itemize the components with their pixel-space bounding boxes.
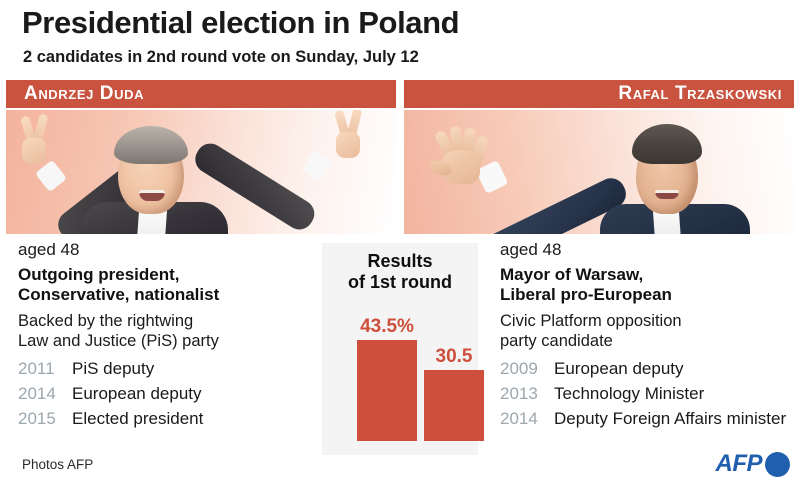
bar-group-duda: 43.5% (357, 340, 417, 441)
candidate-age-trzaskowski: aged 48 (500, 240, 796, 260)
bar-value-label: 43.5% (345, 316, 429, 340)
candidate-role-line1: Outgoing president, (18, 265, 314, 285)
timeline-row: 2014 European deputy (18, 382, 314, 406)
bar-trzaskowski (424, 370, 484, 441)
candidate-backing-line2: party candidate (500, 331, 796, 351)
timeline-label: Deputy Foreign Affairs minister (554, 407, 786, 431)
photos-credit: Photos AFP (22, 457, 93, 472)
candidate-photo-trzaskowski (404, 110, 794, 234)
timeline-label: PiS deputy (72, 357, 154, 381)
photo-mouth (139, 190, 165, 201)
infographic-root: Presidential election in Poland 2 candid… (0, 0, 800, 480)
timeline-label: European deputy (554, 357, 684, 381)
timeline-label: Technology Minister (554, 382, 704, 406)
timeline-year: 2011 (18, 357, 72, 381)
candidate-backing-line1: Civic Platform opposition (500, 311, 796, 331)
timeline-year: 2009 (500, 357, 554, 381)
bar-group-trzaskowski: 30.5 (424, 370, 484, 441)
timeline-label: European deputy (72, 382, 202, 406)
candidate-details-trzaskowski: aged 48 Mayor of Warsaw, Liberal pro-Eur… (500, 240, 796, 432)
timeline-year: 2013 (500, 382, 554, 406)
timeline-row: 2011 PiS deputy (18, 357, 314, 381)
candidate-details-duda: aged 48 Outgoing president, Conservative… (18, 240, 314, 432)
timeline-row: 2013 Technology Minister (500, 382, 796, 406)
timeline-year: 2014 (500, 407, 554, 431)
candidate-role-duda: Outgoing president, Conservative, nation… (18, 265, 314, 305)
timeline-row: 2015 Elected president (18, 407, 314, 431)
candidate-role-line2: Conservative, nationalist (18, 285, 314, 305)
candidate-backing-trzaskowski: Civic Platform opposition party candidat… (500, 311, 796, 351)
candidate-backing-line2: Law and Justice (PiS) party (18, 331, 314, 351)
chart-plot-area: 43.5% 30.5 (322, 305, 478, 455)
chart-title-line1: Results (322, 251, 478, 272)
bar-duda (357, 340, 417, 441)
candidate-role-trzaskowski: Mayor of Warsaw, Liberal pro-European (500, 265, 796, 305)
candidate-backing-duda: Backed by the rightwing Law and Justice … (18, 311, 314, 351)
candidate-backing-line1: Backed by the rightwing (18, 311, 314, 331)
candidate-age-duda: aged 48 (18, 240, 314, 260)
page-subtitle: 2 candidates in 2nd round vote on Sunday… (23, 48, 419, 67)
afp-logo-text: AFP (716, 450, 763, 478)
candidate-timeline-duda: 2011 PiS deputy 2014 European deputy 201… (18, 357, 314, 431)
page-title: Presidential election in Poland (22, 5, 459, 41)
open-hand-wave-icon (424, 128, 486, 184)
chart-title: Results of 1st round (322, 251, 478, 293)
photo-mouth (655, 190, 679, 199)
candidate-name-duda: Andrzej Duda (24, 83, 144, 105)
candidate-banner-duda: Andrzej Duda (6, 80, 396, 108)
candidate-role-line1: Mayor of Warsaw, (500, 265, 796, 285)
timeline-row: 2009 European deputy (500, 357, 796, 381)
timeline-row: 2014 Deputy Foreign Affairs minister (500, 407, 796, 431)
timeline-label: Elected president (72, 407, 203, 431)
candidate-name-trzaskowski: Rafal Trzaskowski (618, 83, 782, 105)
timeline-year: 2015 (18, 407, 72, 431)
candidate-banner-trzaskowski: Rafal Trzaskowski (404, 80, 794, 108)
bar-value-label: 30.5 (418, 346, 490, 370)
chart-title-line2: of 1st round (322, 272, 478, 293)
timeline-year: 2014 (18, 382, 72, 406)
results-chart-panel: Results of 1st round 43.5% 30.5 (322, 243, 478, 455)
afp-logo: AFP (716, 450, 791, 478)
header: Presidential election in Poland 2 candid… (0, 0, 800, 78)
candidate-role-line2: Liberal pro-European (500, 285, 796, 305)
candidate-timeline-trzaskowski: 2009 European deputy 2013 Technology Min… (500, 357, 796, 431)
afp-logo-dot-icon (765, 452, 790, 477)
candidate-photo-duda (6, 110, 396, 234)
